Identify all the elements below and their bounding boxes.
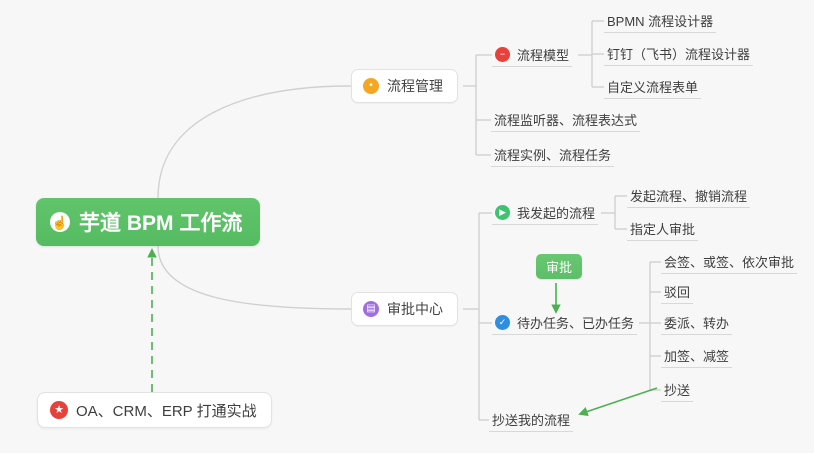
leaf-label: 流程监听器、流程表达式	[494, 110, 637, 129]
location-pin-icon: •	[363, 78, 379, 94]
leaf-label: 加签、减签	[664, 346, 729, 365]
approval-badge-label: 审批	[546, 257, 572, 276]
leaf-node-delegate-transfer[interactable]: 委派、转办	[661, 311, 732, 335]
leaf-label: 流程实例、流程任务	[494, 145, 611, 164]
leaf-node-my-initiated[interactable]: ▶ 我发起的流程	[492, 201, 598, 225]
leaf-label: BPMN 流程设计器	[607, 11, 713, 30]
leaf-node-instance-task[interactable]: 流程实例、流程任务	[491, 143, 614, 167]
minus-circle-icon: −	[495, 47, 510, 62]
leaf-label: 委派、转办	[664, 313, 729, 332]
leaf-node-cc-to-me[interactable]: 抄送我的流程	[489, 408, 573, 432]
leaf-node-process-model[interactable]: − 流程模型	[492, 43, 572, 67]
leaf-label: 会签、或签、依次审批	[664, 252, 794, 271]
leaf-node-custom-form[interactable]: 自定义流程表单	[604, 75, 701, 99]
root-node[interactable]: ☝ 芋道 BPM 工作流	[36, 198, 260, 246]
leaf-label: 抄送我的流程	[492, 410, 570, 429]
branch-node-approval-center[interactable]: ▤ 审批中心	[351, 292, 458, 326]
leaf-node-cc[interactable]: 抄送	[661, 378, 693, 402]
leaf-node-bpmn-designer[interactable]: BPMN 流程设计器	[604, 9, 716, 33]
leaf-node-add-remove-sign[interactable]: 加签、减签	[661, 344, 732, 368]
leaf-node-dingtalk-designer[interactable]: 钉钉（飞书）流程设计器	[604, 42, 753, 66]
star-circle-icon: ★	[50, 401, 68, 419]
leaf-label: 驳回	[664, 282, 690, 301]
integration-callout[interactable]: ★ OA、CRM、ERP 打通实战	[37, 392, 272, 428]
root-node-label: 芋道 BPM 工作流	[79, 207, 242, 237]
leaf-node-start-cancel[interactable]: 发起流程、撤销流程	[627, 184, 750, 208]
leaf-label: 钉钉（飞书）流程设计器	[607, 44, 750, 63]
leaf-label: 流程模型	[517, 45, 569, 64]
leaf-label: 待办任务、已办任务	[517, 313, 634, 332]
leaf-label: 发起流程、撤销流程	[630, 186, 747, 205]
leaf-node-countersign[interactable]: 会签、或签、依次审批	[661, 250, 797, 274]
leaf-node-reject[interactable]: 驳回	[661, 280, 693, 304]
leaf-label: 我发起的流程	[517, 203, 595, 222]
leaf-label: 抄送	[664, 380, 690, 399]
clipboard-icon: ▤	[363, 301, 379, 317]
approval-badge: 审批	[536, 254, 582, 279]
leaf-label: 指定人审批	[630, 219, 695, 238]
mindmap-canvas: ☝ 芋道 BPM 工作流 • 流程管理 − 流程模型 BPMN 流程设计器 钉钉…	[0, 0, 814, 453]
play-circle-icon: ▶	[495, 205, 510, 220]
leaf-label: 自定义流程表单	[607, 77, 698, 96]
thumbs-up-icon: ☝	[50, 212, 70, 232]
leaf-node-listener-expression[interactable]: 流程监听器、流程表达式	[491, 108, 640, 132]
integration-callout-label: OA、CRM、ERP 打通实战	[76, 400, 257, 421]
leaf-node-assigned-approver[interactable]: 指定人审批	[627, 217, 698, 241]
branch-label: 审批中心	[387, 299, 443, 319]
leaf-node-todo-done-tasks[interactable]: ✓ 待办任务、已办任务	[492, 311, 637, 335]
check-circle-icon: ✓	[495, 315, 510, 330]
branch-label: 流程管理	[387, 76, 443, 96]
branch-node-process-management[interactable]: • 流程管理	[351, 69, 458, 103]
